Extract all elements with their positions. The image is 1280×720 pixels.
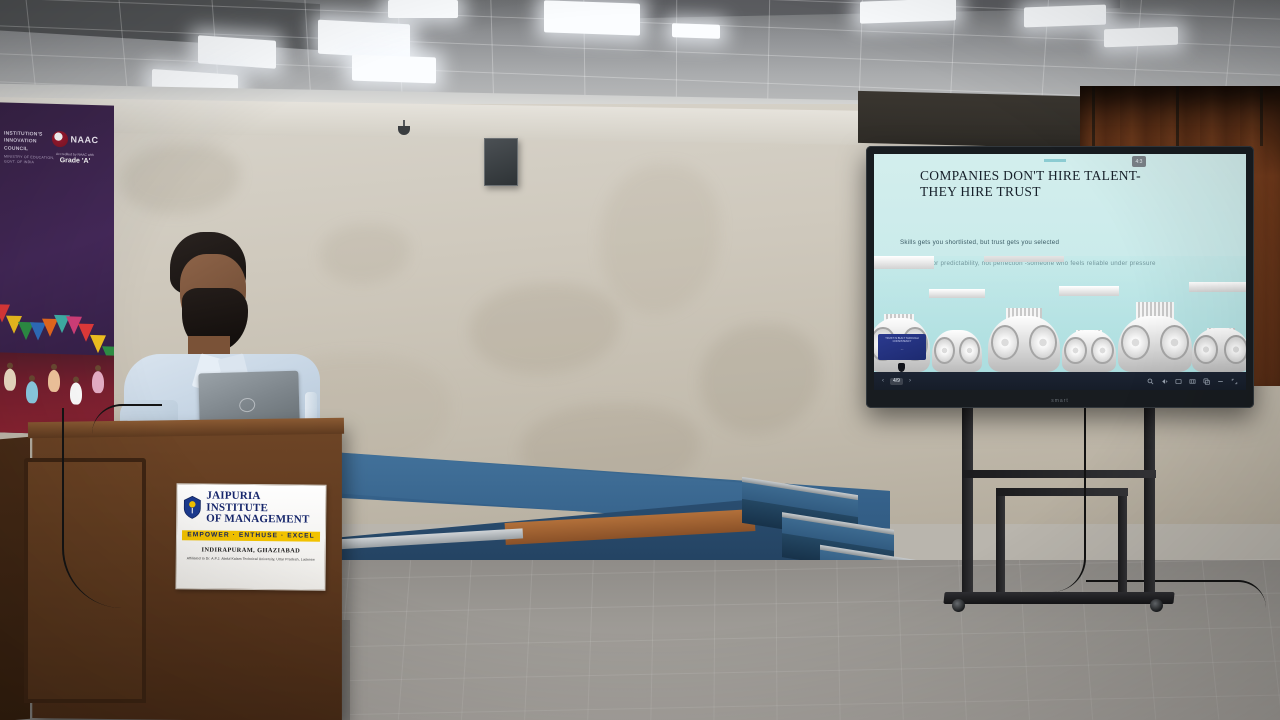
display-screen[interactable]: 4:3 COMPANIES DON'T HIRE TALENT- THEY HI… [874,154,1246,390]
ceiling-light [860,0,956,24]
plaque-city: INDIRAPURAM, GHAZIABAD [182,546,320,554]
blind-rod [1092,86,1095,146]
slide-title: COMPANIES DON'T HIRE TALENT- THEY HIRE T… [920,168,1210,201]
tv-power-cable [1040,406,1086,592]
event-banner: NAAC Accredited by NAAC with Grade 'A' I… [0,102,114,435]
plaque-tagline: EMPOWER · ENTHUSE · EXCEL [182,530,320,541]
column-capital [988,256,1060,372]
slide-overlay-card: TRUST IS BUILT THROUGH CONSISTENCY ... [878,334,926,360]
iic-line-3: Council [4,145,66,154]
column-capital [932,294,982,372]
page-indicator: 4/9 [890,378,903,385]
laser-pointer-icon[interactable] [1161,378,1168,385]
slide-accent-bar [1044,159,1066,162]
cart-leg-inner [1118,488,1127,598]
toolbar-icons[interactable] [1147,378,1238,385]
slide-navigation[interactable]: ‹ 4/9 › [882,378,911,385]
ceiling-light [1104,27,1178,48]
presentation-display[interactable]: 4:3 COMPANIES DON'T HIRE TALENT- THEY HI… [866,146,1254,408]
slide[interactable]: 4:3 COMPANIES DON'T HIRE TALENT- THEY HI… [874,154,1246,390]
cart-leg [962,400,973,596]
slide-title-line-1: COMPANIES DON'T HIRE TALENT- [920,168,1210,184]
chevron-left-icon[interactable]: ‹ [882,378,884,384]
microphone-cable [62,408,154,608]
duplicate-icon[interactable] [1203,378,1210,385]
ceiling-light [352,55,436,84]
podium-plaque: JAIPURIA INSTITUTE OF MANAGEMENT EMPOWER… [175,483,326,591]
cart-caster[interactable] [1150,599,1163,612]
cart-caster[interactable] [952,599,965,612]
slide-title-line-2: THEY HIRE TRUST [920,184,1210,200]
plaque-title-line-1: JAIPURIA INSTITUTE [206,491,320,516]
ceiling-light [672,23,720,39]
slide-pin-icon [898,363,905,372]
column-capital [1062,292,1116,372]
laptop-brand-logo-icon [238,397,256,413]
plaque-affiliation: Affiliated to Dr. A.P.J. Abdul Kalam Tec… [182,556,320,562]
cart-leg-inner [996,488,1005,598]
iic-ministry-line: Ministry of Education, Govt. of India [4,154,66,166]
slide-bullet: Skills gets you shortlisted, but trust g… [900,238,1210,249]
presentation-toolbar[interactable]: ‹ 4/9 › [874,372,1246,390]
cart-leg [1144,400,1155,596]
blind-rod [1176,86,1179,146]
slide-card-text: TRUST IS BUILT THROUGH CONSISTENCY [881,337,923,343]
chevron-right-icon[interactable]: › [909,378,911,384]
zoom-icon[interactable] [1147,378,1154,385]
naac-name: NAAC [71,134,99,145]
ceiling-light [544,0,640,35]
column-capital [1118,256,1192,372]
fullscreen-icon[interactable] [1231,378,1238,385]
plaque-title-line-2: OF MANAGEMENT [206,514,320,527]
laptop[interactable] [198,371,299,426]
ceiling-light [198,35,276,68]
slide-ratio-badge: 4:3 [1132,156,1146,167]
display-brand: smart [1051,398,1069,404]
jaipuria-crest-icon [182,496,202,520]
slide-image-columns [874,256,1246,372]
ceiling-light [388,0,458,18]
iic-block: Institution's Innovation Council Ministr… [4,131,66,167]
annotate-icon[interactable] [1189,378,1196,385]
ceiling-light [1024,5,1106,28]
cart-base [943,592,1174,604]
slide-card-label: ... [881,347,923,351]
ceiling-light [318,20,410,59]
present-icon[interactable] [1175,378,1182,385]
blind-rod [1260,86,1263,146]
presentation-room-photo: NAAC Accredited by NAAC with Grade 'A' I… [0,0,1280,720]
wall-speaker [484,138,518,186]
column-capital [1192,288,1246,372]
minimize-icon[interactable] [1217,378,1224,385]
